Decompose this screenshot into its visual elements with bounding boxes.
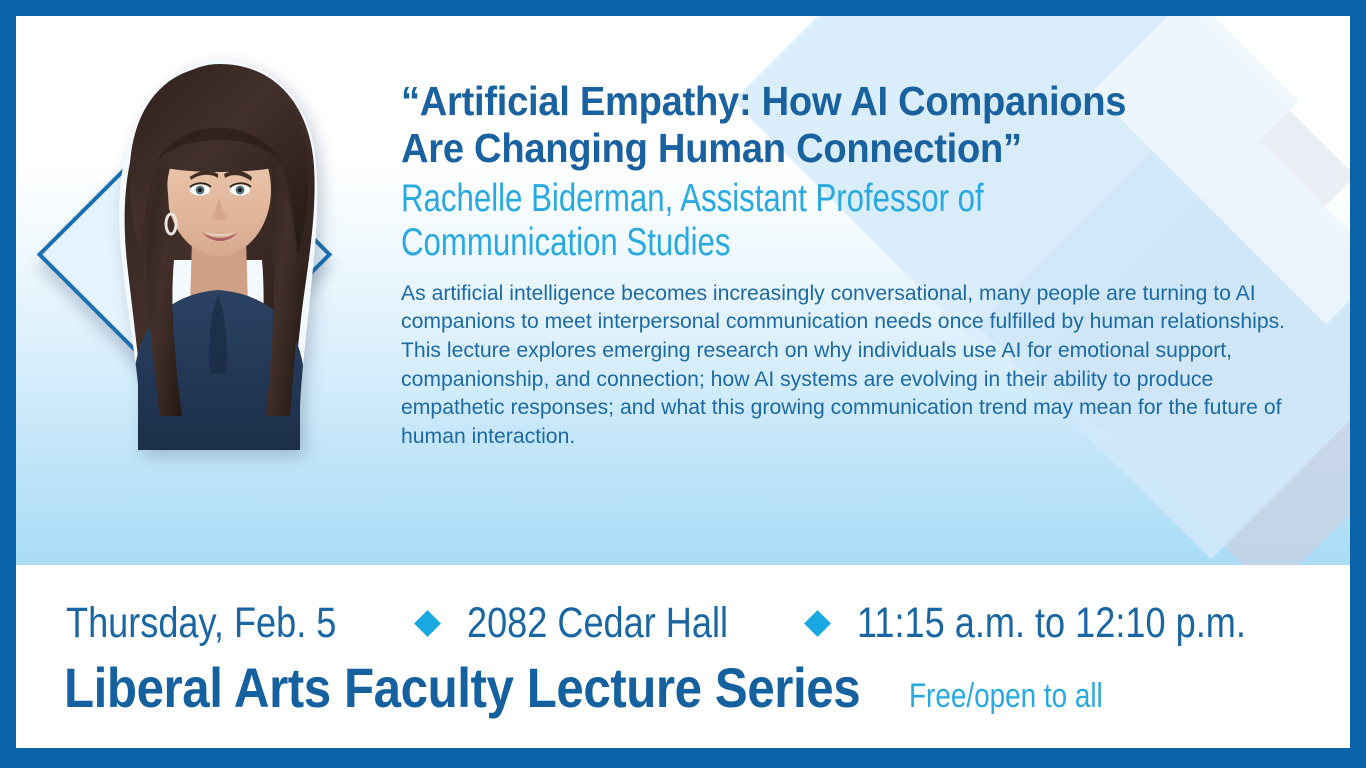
bottom-band: Thursday, Feb. 5 2082 Cedar Hall 11:15 a… — [16, 565, 1350, 748]
lecture-title: “Artificial Empathy: How AI Companions A… — [401, 78, 1249, 171]
portrait-block — [16, 16, 416, 486]
event-details-row: Thursday, Feb. 5 2082 Cedar Hall 11:15 a… — [66, 602, 1320, 645]
diamond-separator-icon — [414, 610, 441, 637]
speaker-name: Rachelle Biderman, Assistant Professor o… — [401, 177, 1131, 264]
lecture-abstract: As artificial intelligence becomes incre… — [401, 279, 1288, 451]
upper-panel: “Artificial Empathy: How AI Companions A… — [16, 16, 1350, 565]
speaker-photo — [94, 54, 344, 450]
diamond-separator-icon — [804, 610, 831, 637]
series-row: Liberal Arts Faculty Lecture Series Free… — [64, 660, 1145, 716]
free-note: Free/open to all — [909, 679, 1103, 713]
series-title: Liberal Arts Faculty Lecture Series — [64, 660, 860, 716]
event-date: Thursday, Feb. 5 — [66, 602, 336, 645]
text-column: “Artificial Empathy: How AI Companions A… — [401, 78, 1313, 450]
flyer-inner-canvas: “Artificial Empathy: How AI Companions A… — [16, 16, 1350, 748]
event-time: 11:15 a.m. to 12:10 p.m. — [857, 602, 1246, 645]
event-location: 2082 Cedar Hall — [467, 602, 728, 645]
event-flyer: “Artificial Empathy: How AI Companions A… — [0, 0, 1366, 768]
